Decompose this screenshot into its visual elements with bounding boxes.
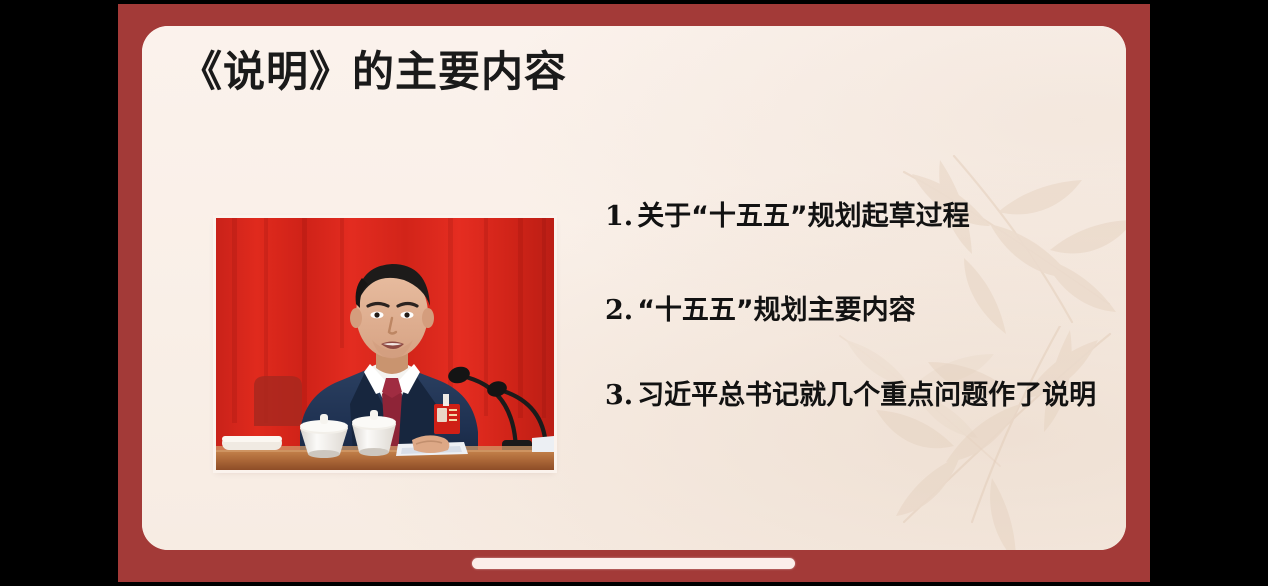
speaker-photo — [216, 218, 554, 470]
list-item-label: 习近平总书记就几个重点问题作了说明 — [637, 380, 1096, 411]
slide-progress-track[interactable] — [118, 555, 1150, 573]
list-item-number: 2. — [605, 295, 633, 326]
slide-progress-indicator[interactable] — [472, 558, 795, 569]
list-item-number: 1. — [605, 201, 633, 232]
list-item-number: 3. — [605, 380, 633, 411]
slide-title: 《说明》的主要内容 — [180, 48, 567, 96]
speaker-photo-illustration — [216, 218, 554, 470]
slide-frame: 《说明》的主要内容 — [118, 4, 1150, 582]
slide-content-panel: 《说明》的主要内容 — [142, 26, 1126, 550]
list-item-label: 关于“十五五”规划起草过程 — [637, 201, 970, 232]
list-item: 1.关于“十五五”规划起草过程 — [605, 201, 1105, 233]
screen-stage: 《说明》的主要内容 — [0, 0, 1268, 586]
list-item: 3.习近平总书记就几个重点问题作了说明 — [605, 380, 1105, 412]
list-item-label: “十五五”规划主要内容 — [637, 295, 916, 326]
list-item: 2.“十五五”规划主要内容 — [605, 295, 1105, 327]
speaker-photo-frame — [216, 218, 554, 470]
slide-bullet-list: 1.关于“十五五”规划起草过程 2.“十五五”规划主要内容 3.习近平总书记就几… — [605, 201, 1105, 412]
